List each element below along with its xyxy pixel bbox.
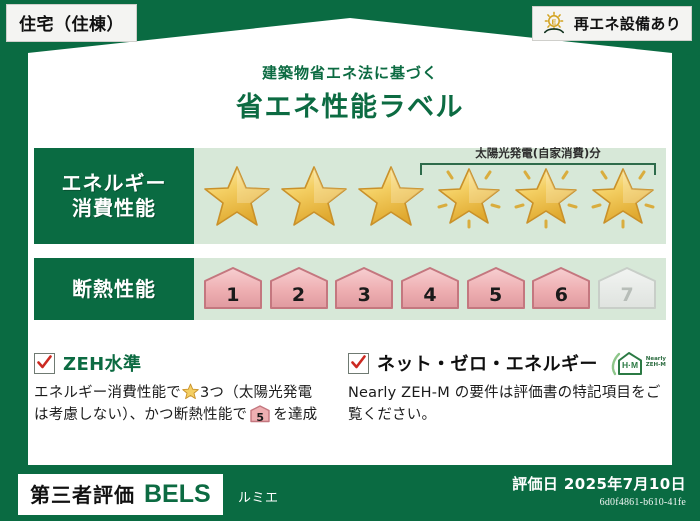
insulation-level-7-label: 7	[596, 284, 658, 306]
net-zero-energy-header: ネット・ゼロ・エネルギー H·M Nearly ZEH-M	[348, 350, 666, 376]
insulation-level-2: 2	[268, 266, 330, 312]
insulation-level-6: 6	[530, 266, 592, 312]
energy-caption-line2: 消費性能	[72, 196, 156, 221]
star-6-solar	[587, 160, 659, 232]
label-footer: 第三者評価 BELS ルミエ 評価日 2025年7月10日 6d0f4861-b…	[0, 465, 700, 521]
net-zero-checkbox[interactable]	[348, 353, 369, 374]
zeh-m-logo: H·M Nearly ZEH-M	[610, 350, 666, 376]
insulation-level-group: 1 2 3 4	[194, 258, 666, 320]
inline-house-icon: 5	[249, 405, 271, 423]
insulation-level-5-label: 5	[465, 284, 527, 306]
insulation-level-3-label: 3	[333, 284, 395, 306]
title-main: 省エネ性能ラベル	[0, 85, 700, 124]
insulation-level-2-label: 2	[268, 284, 330, 306]
insulation-level-4-label: 4	[399, 284, 461, 306]
energy-performance-row: エネルギー 消費性能	[34, 148, 666, 244]
zeh-body-pre: エネルギー消費性能で	[34, 385, 181, 401]
insulation-levels-area: 1 2 3 4	[194, 258, 666, 320]
energy-performance-stars-area: 太陽光発電(自家消費)分	[194, 148, 666, 244]
insulation-level-1-label: 1	[202, 284, 264, 306]
insulation-level-4: 4	[399, 266, 461, 312]
inline-star-icon	[182, 383, 199, 400]
zeh-checkbox[interactable]	[34, 353, 55, 374]
label-title-block: 建築物省エネ法に基づく 省エネ性能ラベル	[0, 62, 700, 124]
zeh-standard-header: ZEH水準	[34, 350, 326, 376]
criteria-columns: ZEH水準 エネルギー消費性能で3つ（太陽光発電は考慮しない）、かつ断熱性能で5…	[34, 350, 666, 446]
house-type-tag: 住宅（住棟）	[6, 4, 137, 42]
zeh-standard-title: ZEH水準	[63, 350, 141, 376]
inline-house-value: 5	[249, 409, 271, 426]
energy-performance-caption: エネルギー 消費性能	[34, 148, 194, 244]
bels-certification-mark: 第三者評価 BELS	[18, 474, 223, 515]
brand-name: ルミエ	[238, 487, 279, 506]
bels-wordmark: BELS	[144, 480, 211, 509]
third-party-eval-label: 第三者評価	[30, 479, 135, 508]
document-id: 6d0f4861-b610-41fe	[512, 497, 686, 508]
zeh-body-post: を達成	[273, 407, 317, 423]
bels-energy-label: 住宅（住棟） E 再エネ設備あり 建築物省エネ法に基づく 省エネ性能ラベル エネ…	[0, 0, 700, 521]
net-zero-energy-title: ネット・ゼロ・エネルギー	[377, 350, 598, 376]
sun-icon: E	[541, 11, 567, 35]
svg-text:E: E	[552, 19, 557, 26]
zeh-m-logo-caption: Nearly ZEH-M	[646, 357, 666, 369]
insulation-performance-row: 断熱性能	[34, 258, 666, 320]
zeh-standard-column: ZEH水準 エネルギー消費性能で3つ（太陽光発電は考慮しない）、かつ断熱性能で5…	[34, 350, 326, 446]
zeh-m-caption-line2: ZEH-M	[646, 362, 666, 368]
insulation-level-6-label: 6	[530, 284, 592, 306]
star-1	[201, 160, 273, 232]
star-5-solar	[510, 160, 582, 232]
insulation-performance-caption: 断熱性能	[34, 258, 194, 320]
net-zero-energy-body: Nearly ZEH-M の要件は評価書の特記項目をご覧ください。	[348, 382, 666, 427]
footer-meta: 評価日 2025年7月10日 6d0f4861-b610-41fe	[512, 473, 686, 508]
star-rating-group	[194, 148, 666, 244]
evaluation-date: 評価日 2025年7月10日	[512, 473, 686, 494]
star-2	[278, 160, 350, 232]
star-3	[355, 160, 427, 232]
zeh-m-logo-label: H·M	[622, 360, 638, 370]
insulation-level-7: 7	[596, 266, 658, 312]
renewable-badge-label: 再エネ設備あり	[574, 13, 681, 34]
energy-caption-line1: エネルギー	[62, 171, 167, 196]
insulation-level-5: 5	[465, 266, 527, 312]
insulation-level-1: 1	[202, 266, 264, 312]
title-subtitle: 建築物省エネ法に基づく	[0, 62, 700, 83]
star-4-solar	[433, 160, 505, 232]
renewable-equipment-badge: E 再エネ設備あり	[532, 6, 692, 41]
net-zero-energy-column: ネット・ゼロ・エネルギー H·M Nearly ZEH-M Nearly ZEH…	[348, 350, 666, 446]
zeh-standard-body: エネルギー消費性能で3つ（太陽光発電は考慮しない）、かつ断熱性能で5を達成	[34, 382, 326, 427]
insulation-level-3: 3	[333, 266, 395, 312]
